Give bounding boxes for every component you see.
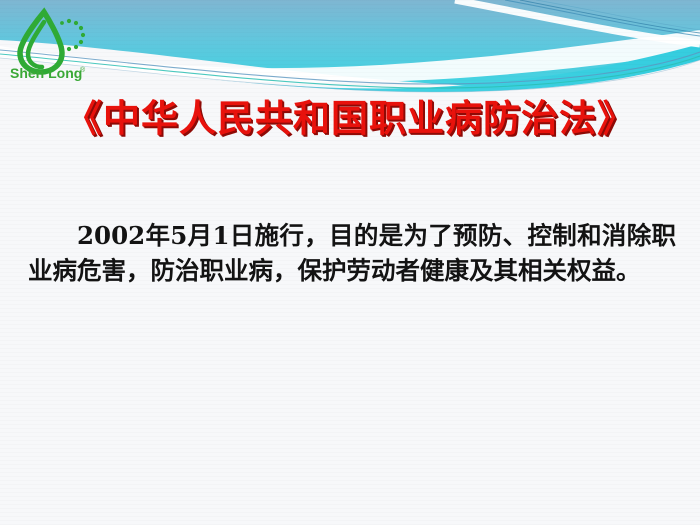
presentation-slide: Shen Long ® 《中华人民共和国职业病防治法》 2002年5月1日施行，…: [0, 0, 700, 525]
droplet-icon: [20, 12, 62, 72]
body-paragraph: 2002年5月1日施行，目的是为了预防、控制和消除职业病危害，防治职业病，保护劳…: [28, 218, 676, 288]
star-arc-icon: [60, 19, 85, 51]
logo-trademark-symbol: ®: [80, 66, 86, 74]
logo-brand-text: Shen Long: [10, 65, 82, 81]
title-container: 《中华人民共和国职业病防治法》: [0, 96, 700, 140]
body-container: 2002年5月1日施行，目的是为了预防、控制和消除职业病危害，防治职业病，保护劳…: [28, 218, 676, 288]
company-logo: Shen Long ®: [4, 6, 96, 82]
page-title: 《中华人民共和国职业病防治法》: [65, 96, 635, 140]
